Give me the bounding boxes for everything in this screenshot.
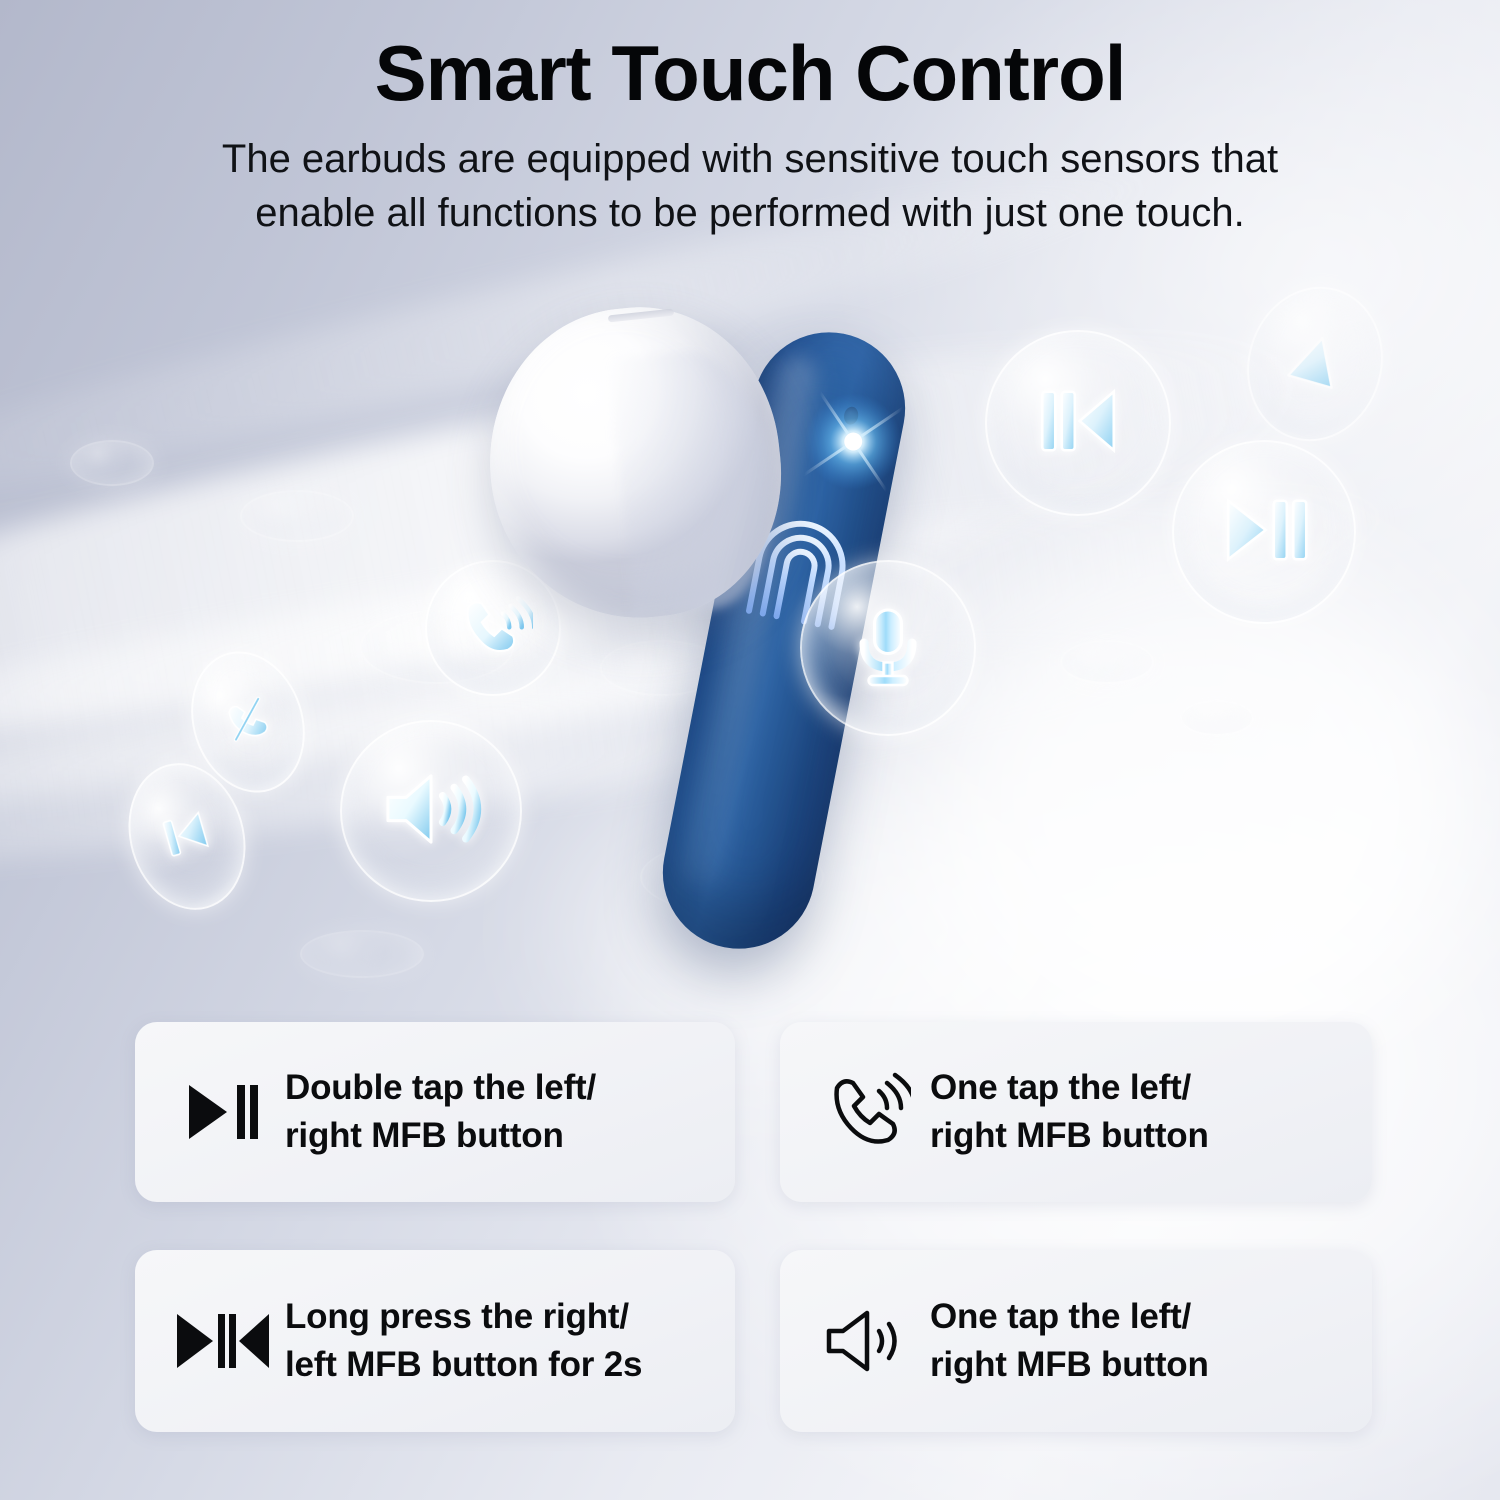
card-line-1: Double tap the left/	[285, 1064, 596, 1112]
page-title: Smart Touch Control	[0, 34, 1500, 112]
card-line-2: right MFB button	[285, 1112, 596, 1160]
play-pause-icon	[169, 1079, 277, 1145]
phone-call-icon	[814, 1072, 922, 1152]
card-line-1: One tap the left/	[930, 1064, 1209, 1112]
page-subtitle: The earbuds are equipped with sensitive …	[160, 132, 1340, 240]
call-decline-icon	[209, 682, 286, 762]
decorative-bubble	[1060, 640, 1154, 684]
card-line-1: One tap the left/	[930, 1293, 1209, 1341]
microphone-icon	[840, 598, 936, 699]
play-triangle-icon	[1270, 317, 1360, 411]
speaker-volume-icon	[814, 1305, 922, 1377]
decorative-bubble	[1180, 700, 1254, 736]
control-card-text: Double tap the left/ right MFB button	[285, 1064, 596, 1159]
play-pause-icon	[1212, 478, 1316, 587]
bubble-play-pause	[1172, 440, 1356, 624]
bubble-rewind	[985, 330, 1171, 516]
card-line-2: left MFB button for 2s	[285, 1341, 642, 1389]
subtitle-line-1: The earbuds are equipped with sensitive …	[160, 132, 1340, 186]
product-feature-page: Smart Touch Control The earbuds are equi…	[0, 0, 1500, 1500]
rewind-icon	[1026, 369, 1130, 478]
led-flare-icon	[783, 371, 918, 512]
bubble-play-triangle	[1229, 271, 1401, 458]
control-card-answer-call[interactable]: One tap the left/ right MFB button	[780, 1022, 1372, 1202]
control-card-play-pause[interactable]: Double tap the left/ right MFB button	[135, 1022, 735, 1202]
decorative-bubble	[300, 930, 424, 978]
control-card-text: One tap the left/ right MFB button	[930, 1064, 1209, 1159]
subtitle-line-2: enable all functions to be performed wit…	[160, 186, 1340, 240]
control-card-text: Long press the right/ left MFB button fo…	[285, 1293, 642, 1388]
volume-up-icon	[378, 756, 484, 867]
previous-track-icon	[148, 796, 226, 877]
card-line-2: right MFB button	[930, 1112, 1209, 1160]
decorative-bubble	[240, 490, 354, 542]
bubble-microphone	[800, 560, 976, 736]
card-line-1: Long press the right/	[285, 1293, 642, 1341]
background-glow	[920, 540, 1480, 1060]
card-line-2: right MFB button	[930, 1341, 1209, 1389]
control-card-text: One tap the left/ right MFB button	[930, 1293, 1209, 1388]
header: Smart Touch Control The earbuds are equi…	[0, 34, 1500, 240]
next-previous-track-icon	[169, 1308, 277, 1374]
control-card-track-skip[interactable]: Long press the right/ left MFB button fo…	[135, 1250, 735, 1432]
control-card-volume[interactable]: One tap the left/ right MFB button	[780, 1250, 1372, 1432]
decorative-bubble	[70, 440, 154, 486]
